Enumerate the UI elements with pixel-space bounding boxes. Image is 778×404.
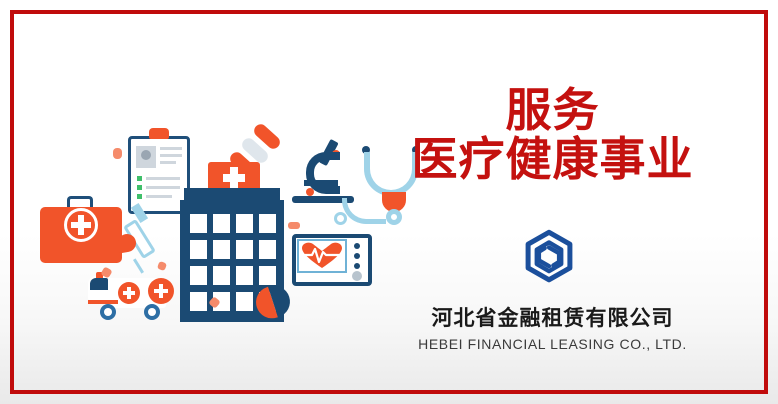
- ecg-heart-icon: [299, 241, 345, 271]
- company-name-block: 河北省金融租赁有限公司 HEBEI FINANCIAL LEASING CO.,…: [395, 302, 710, 352]
- heart-rate-monitor-icon: [292, 234, 376, 290]
- company-logo: [513, 228, 585, 300]
- headline-line-2: 医疗健康事业: [395, 135, 710, 184]
- headline: 服务 医疗健康事业: [395, 86, 710, 184]
- poster-canvas: 服务 医疗健康事业 河北省金融租赁有限公司 HEBEI FINANCIAL LE…: [0, 0, 778, 404]
- bandage-plaster-icon: [234, 130, 292, 170]
- first-aid-kit-icon: [40, 196, 122, 266]
- decorative-speck: [288, 222, 300, 229]
- hexagon-interlock-logo-icon: [513, 228, 585, 300]
- decorative-speck: [113, 148, 122, 159]
- company-name-cn: 河北省金融租赁有限公司: [395, 302, 710, 332]
- medical-cross-badge-icon: [148, 278, 174, 304]
- company-name-en: HEBEI FINANCIAL LEASING CO., LTD.: [395, 336, 710, 352]
- headline-line-1: 服务: [395, 86, 710, 135]
- medical-illustration: [40, 120, 400, 330]
